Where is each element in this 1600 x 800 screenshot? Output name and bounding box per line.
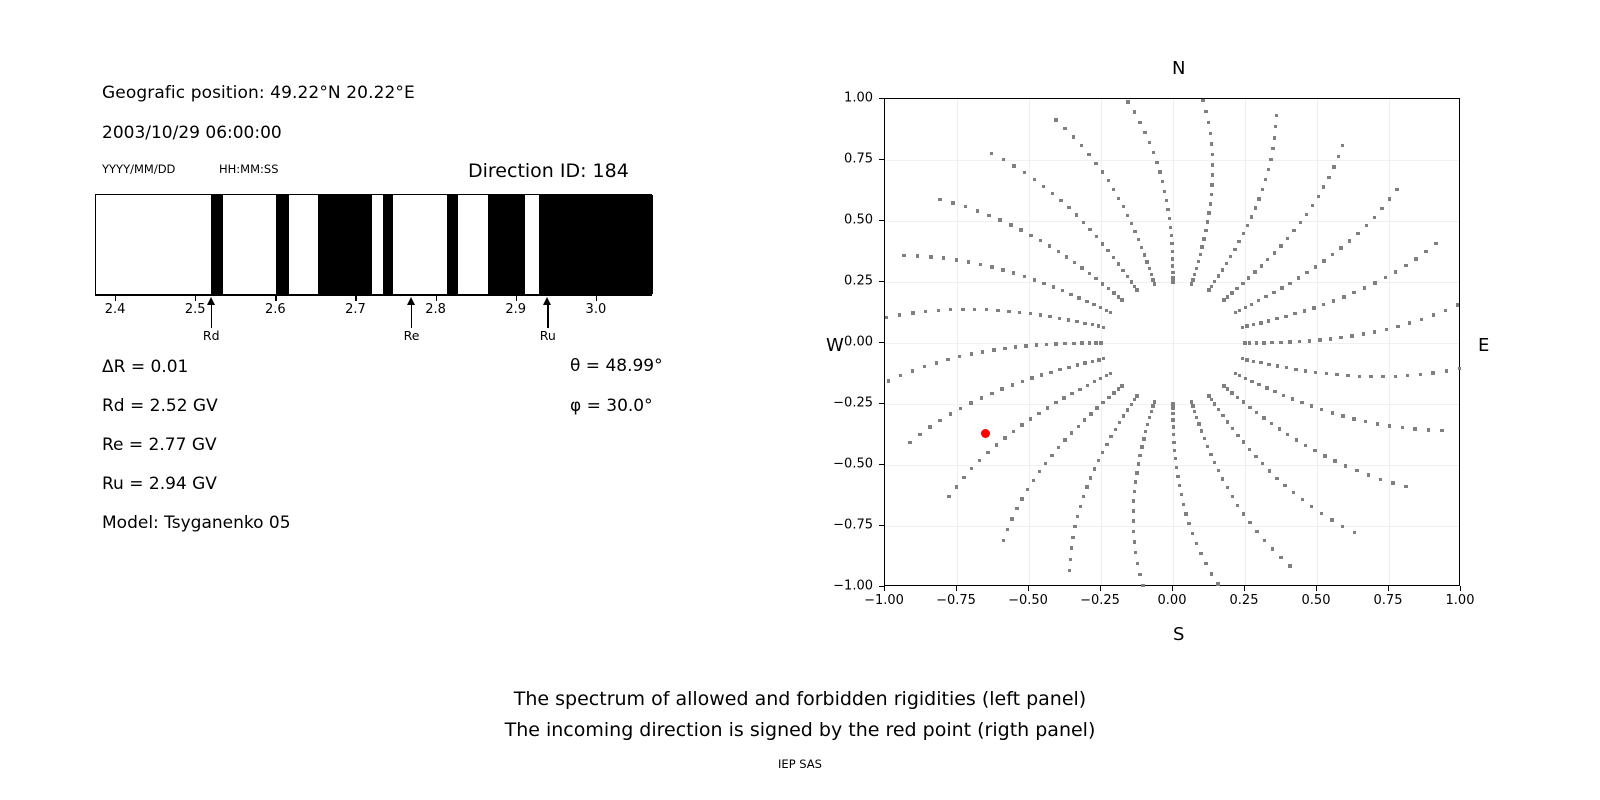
direction-grid-dot — [1182, 503, 1185, 506]
x-axis-tick-label: −0.75 — [936, 593, 976, 608]
direction-grid-dot — [1101, 282, 1104, 285]
direction-grid-dot — [1233, 248, 1236, 251]
direction-grid-dot — [1040, 373, 1043, 376]
direction-grid-dot — [1211, 173, 1214, 176]
direction-grid-dot — [1344, 464, 1347, 467]
direction-grid-dot — [1065, 255, 1068, 258]
direction-grid-dot — [1112, 256, 1115, 259]
direction-grid-dot — [1236, 504, 1239, 507]
direction-grid-dot — [1007, 310, 1010, 313]
direction-grid-dot — [1242, 400, 1245, 403]
direction-grid-dot — [1313, 449, 1316, 452]
direction-grid-dot — [1112, 291, 1115, 294]
direction-grid-dot — [1012, 271, 1015, 274]
direction-grid-dot — [1153, 400, 1156, 403]
direction-grid-dot — [1434, 242, 1437, 245]
direction-grid-dot — [1242, 440, 1245, 443]
direction-grid-dot — [1153, 282, 1156, 285]
direction-grid-dot — [1019, 228, 1022, 231]
direction-grid-dot — [1172, 441, 1175, 444]
direction-grid-dot — [1267, 363, 1270, 366]
direction-grid-dot — [1117, 295, 1120, 298]
direction-grid-dot — [1150, 410, 1153, 413]
direction-grid-dot — [1109, 372, 1112, 375]
direction-grid-dot — [899, 374, 902, 377]
direction-grid-dot — [1105, 443, 1108, 446]
direction-grid-dot — [1137, 238, 1140, 241]
direction-grid-dot — [1388, 424, 1391, 427]
direction-grid-dot — [1329, 337, 1332, 340]
direction-grid-dot — [1010, 517, 1013, 520]
marker-label-re: Re — [404, 328, 420, 343]
direction-grid-dot — [1384, 276, 1387, 279]
direction-grid-dot — [955, 485, 958, 488]
direction-grid-dot — [1294, 368, 1297, 371]
direction-grid-dot — [1458, 367, 1461, 370]
direction-grid-dot — [1176, 475, 1179, 478]
direction-grid-dot — [1252, 323, 1255, 326]
param-model: Model: Tsyganenko 05 — [102, 513, 291, 533]
direction-grid-dot — [1001, 268, 1004, 271]
direction-grid-dot — [1122, 414, 1125, 417]
direction-grid-dot — [1204, 229, 1207, 232]
direction-grid-dot — [1331, 411, 1334, 414]
direction-grid-dot — [1037, 412, 1040, 415]
direction-grid-dot — [1202, 237, 1205, 240]
direction-grid-dot — [1093, 380, 1096, 383]
forbidden-band — [488, 195, 525, 294]
direction-grid-dot — [1381, 375, 1384, 378]
direction-grid-dot — [1199, 253, 1202, 256]
direction-grid-dot — [1199, 552, 1202, 555]
direction-grid-dot — [1144, 430, 1147, 433]
direction-grid-dot — [1246, 224, 1249, 227]
param-delta-r: ΔR = 0.01 — [102, 357, 188, 377]
direction-grid-dot — [1136, 562, 1139, 565]
marker-label-ru: Ru — [540, 328, 556, 343]
spectrum-axis — [95, 295, 652, 296]
marker-label-rd: Rd — [203, 328, 220, 343]
direction-grid-dot — [1021, 380, 1024, 383]
direction-grid-dot — [1120, 384, 1123, 387]
direction-grid-dot — [1023, 275, 1026, 278]
direction-grid-dot — [1311, 204, 1314, 207]
direction-grid-dot — [1112, 188, 1115, 191]
direction-grid-dot — [1171, 276, 1174, 279]
direction-grid-dot — [1114, 428, 1117, 431]
direction-grid-dot — [1094, 277, 1097, 280]
direction-grid-dot — [1045, 343, 1048, 346]
direction-grid-dot — [1288, 564, 1291, 567]
direction-grid-dot — [1280, 286, 1283, 289]
direction-grid-dot — [1133, 285, 1136, 288]
direction-grid-dot — [1267, 168, 1270, 171]
direction-grid-dot — [1396, 325, 1399, 328]
direction-grid-dot — [1275, 317, 1278, 320]
direction-grid-dot — [1308, 339, 1311, 342]
direction-grid-dot — [1101, 451, 1104, 454]
direction-grid-dot — [1097, 459, 1100, 462]
direction-grid-dot — [1209, 202, 1212, 205]
direction-grid-dot — [1097, 358, 1100, 361]
direction-grid-dot — [1023, 171, 1026, 174]
direction-grid-dot — [1333, 459, 1336, 462]
direction-grid-dot — [1132, 519, 1135, 522]
spectrum-tick-label: 2.9 — [505, 302, 526, 317]
direction-grid-dot — [1133, 230, 1136, 233]
direction-grid-dot — [1265, 386, 1268, 389]
direction-grid-dot — [1126, 100, 1129, 103]
direction-grid-dot — [1341, 525, 1344, 528]
direction-grid-dot — [1080, 144, 1083, 147]
direction-grid-dot — [1226, 486, 1229, 489]
direction-grid-dot — [1221, 414, 1224, 417]
direction-grid-dot — [949, 308, 952, 311]
direction-grid-dot — [1263, 539, 1266, 542]
direction-grid-dot — [1095, 235, 1098, 238]
direction-grid-dot — [1121, 269, 1124, 272]
direction-grid-dot — [1365, 224, 1368, 227]
gridline-vertical — [957, 99, 958, 585]
direction-grid-dot — [1244, 377, 1247, 380]
direction-grid-dot — [1143, 253, 1146, 256]
direction-grid-dot — [1067, 206, 1070, 209]
direction-grid-dot — [1020, 423, 1023, 426]
direction-grid-dot — [1018, 311, 1021, 314]
direction-grid-dot — [1099, 306, 1102, 309]
direction-grid-dot — [1272, 291, 1275, 294]
gridline-horizontal — [885, 221, 1459, 222]
direction-grid-dot — [1276, 364, 1279, 367]
x-axis-tick — [884, 586, 885, 591]
direction-grid-dot — [1158, 170, 1161, 173]
direction-grid-dot — [1171, 406, 1174, 409]
direction-grid-dot — [1130, 403, 1133, 406]
direction-grid-dot — [1268, 469, 1271, 472]
direction-grid-dot — [1332, 299, 1335, 302]
y-axis-tick — [879, 586, 884, 587]
direction-grid-dot — [976, 209, 979, 212]
spectrum-tick-label: 3.0 — [586, 302, 607, 317]
direction-grid-dot — [1237, 240, 1240, 243]
spectrum-tick-label: 2.4 — [105, 302, 126, 317]
direction-grid-dot — [1075, 213, 1078, 216]
direction-grid-dot — [1117, 262, 1120, 265]
direction-grid-dot — [1300, 401, 1303, 404]
direction-grid-dot — [1152, 151, 1155, 154]
direction-grid-dot — [1259, 321, 1262, 324]
direction-grid-dot — [1376, 422, 1379, 425]
direction-grid-dot — [1184, 512, 1187, 515]
direction-grid-dot — [1385, 328, 1388, 331]
direction-grid-dot — [1048, 244, 1051, 247]
marker-arrow-rd — [211, 304, 212, 328]
direction-grid-dot — [967, 260, 970, 263]
direction-grid-dot — [902, 254, 905, 257]
forbidden-band — [211, 195, 223, 294]
direction-grid-dot — [986, 451, 989, 454]
direction-grid-dot — [1134, 480, 1137, 483]
direction-grid-dot — [970, 352, 973, 355]
direction-grid-dot — [1029, 312, 1032, 315]
direction-grid-dot — [1244, 306, 1247, 309]
direction-grid-dot — [1039, 239, 1042, 242]
direction-grid-dot — [1075, 320, 1078, 323]
x-axis-tick-label: −0.50 — [1008, 593, 1048, 608]
direction-grid-dot — [1206, 445, 1209, 448]
direction-grid-dot — [1273, 136, 1276, 139]
direction-grid-dot — [1197, 422, 1200, 425]
direction-grid-dot — [1213, 402, 1216, 405]
direction-grid-dot — [1255, 341, 1258, 344]
direction-grid-dot — [1079, 505, 1082, 508]
direction-grid-dot — [1406, 374, 1409, 377]
compass-label-south: S — [1173, 624, 1184, 645]
direction-grid-dot — [1187, 522, 1190, 525]
direction-grid-dot — [1408, 321, 1411, 324]
direction-grid-dot — [1207, 288, 1210, 291]
direction-grid-dot — [898, 313, 901, 316]
direction-grid-dot — [1363, 286, 1366, 289]
direction-grid-dot — [1174, 457, 1177, 460]
direction-grid-dot — [1170, 242, 1173, 245]
direction-grid-dot — [1207, 211, 1210, 214]
x-axis-tick-label: 0.00 — [1158, 593, 1187, 608]
direction-grid-dot — [1419, 373, 1422, 376]
direction-grid-dot — [938, 198, 941, 201]
direction-grid-dot — [990, 265, 993, 268]
direction-grid-dot — [1000, 387, 1003, 390]
direction-map-chart — [884, 98, 1460, 586]
direction-grid-dot — [1166, 208, 1169, 211]
direction-grid-dot — [1206, 220, 1209, 223]
direction-grid-dot — [1006, 528, 1009, 531]
direction-grid-dot — [1248, 448, 1251, 451]
direction-grid-dot — [1204, 110, 1207, 113]
direction-grid-dot — [1362, 332, 1365, 335]
direction-grid-dot — [1253, 270, 1256, 273]
gridline-vertical — [1317, 99, 1318, 585]
direction-grid-dot — [1132, 499, 1135, 502]
direction-grid-dot — [1305, 271, 1308, 274]
direction-grid-dot — [1086, 384, 1089, 387]
direction-grid-dot — [1141, 584, 1144, 587]
direction-grid-dot — [1310, 404, 1313, 407]
y-axis-tick-label: −0.25 — [811, 396, 873, 411]
gridline-vertical — [1173, 99, 1174, 585]
direction-grid-dot — [970, 467, 973, 470]
direction-grid-dot — [1122, 205, 1125, 208]
direction-grid-dot — [1279, 244, 1282, 247]
direction-grid-dot — [1367, 473, 1370, 476]
direction-grid-dot — [1226, 387, 1229, 390]
direction-grid-dot — [1094, 341, 1097, 344]
direction-grid-dot — [1140, 246, 1143, 249]
direction-grid-dot — [1456, 303, 1459, 306]
x-axis-tick-label: 0.25 — [1230, 593, 1259, 608]
direction-grid-dot — [1414, 257, 1417, 260]
gridline-horizontal — [885, 526, 1459, 527]
direction-grid-dot — [1171, 250, 1174, 253]
x-axis-tick — [1100, 586, 1101, 591]
y-axis-tick-label: −1.00 — [811, 579, 873, 594]
direction-grid-dot — [1193, 273, 1196, 276]
forbidden-band — [447, 195, 458, 294]
direction-grid-dot — [885, 316, 888, 319]
direction-grid-dot — [992, 348, 995, 351]
direction-grid-dot — [1191, 532, 1194, 535]
direction-grid-dot — [1171, 257, 1174, 260]
direction-grid-dot — [1204, 562, 1207, 565]
direction-grid-dot — [1271, 547, 1274, 550]
direction-grid-dot — [1180, 493, 1183, 496]
direction-grid-dot — [1259, 361, 1262, 364]
direction-grid-dot — [1339, 336, 1342, 339]
caption-line-1: The spectrum of allowed and forbidden ri… — [0, 688, 1600, 710]
direction-grid-dot — [1063, 127, 1066, 130]
direction-grid-dot — [1068, 569, 1071, 572]
param-re: Re = 2.77 GV — [102, 435, 217, 455]
direction-grid-dot — [1364, 420, 1367, 423]
direction-grid-dot — [959, 407, 962, 410]
direction-grid-dot — [1151, 404, 1154, 407]
direction-grid-dot — [998, 218, 1001, 221]
gridline-vertical — [1389, 99, 1390, 585]
direction-grid-dot — [1295, 438, 1298, 441]
param-ru: Ru = 2.94 GV — [102, 474, 217, 494]
direction-grid-dot — [1168, 217, 1171, 220]
direction-grid-dot — [1210, 398, 1213, 401]
x-axis-tick-label: 1.00 — [1446, 593, 1475, 608]
polar-plot-frame — [884, 98, 1460, 586]
direction-grid-dot — [1213, 461, 1216, 464]
direction-grid-dot — [1207, 121, 1210, 124]
direction-grid-dot — [1030, 376, 1033, 379]
direction-grid-dot — [1254, 206, 1257, 209]
x-axis-tick-label: 0.75 — [1374, 593, 1403, 608]
direction-grid-dot — [1035, 343, 1038, 346]
direction-grid-dot — [1085, 300, 1088, 303]
direction-grid-dot — [1155, 161, 1158, 164]
direction-grid-dot — [1133, 490, 1136, 493]
direction-grid-dot — [1172, 433, 1175, 436]
direction-grid-dot — [1288, 340, 1291, 343]
compass-label-east: E — [1478, 335, 1489, 356]
direction-grid-dot — [1091, 323, 1094, 326]
direction-grid-dot — [1150, 273, 1153, 276]
direction-grid-dot — [1323, 454, 1326, 457]
x-axis-tick — [1316, 586, 1317, 591]
direction-grid-dot — [1255, 411, 1258, 414]
direction-grid-dot — [887, 379, 890, 382]
direction-grid-dot — [1135, 288, 1138, 291]
direction-grid-dot — [1350, 334, 1353, 337]
direction-grid-dot — [1107, 179, 1110, 182]
direction-grid-dot — [1353, 531, 1356, 534]
direction-grid-dot — [1445, 369, 1448, 372]
direction-grid-dot — [1051, 192, 1054, 195]
marker-arrow-head — [543, 297, 551, 305]
incoming-direction-point — [981, 429, 990, 438]
direction-grid-dot — [1221, 268, 1224, 271]
direction-grid-dot — [1163, 190, 1166, 193]
direction-grid-dot — [1003, 436, 1006, 439]
x-axis-tick-label: −1.00 — [864, 593, 904, 608]
direction-grid-dot — [1229, 255, 1232, 258]
direction-grid-dot — [1058, 317, 1061, 320]
direction-grid-dot — [1200, 245, 1203, 248]
direction-grid-dot — [1029, 234, 1032, 237]
direction-grid-dot — [1054, 342, 1057, 345]
direction-grid-dot — [1072, 135, 1075, 138]
direction-grid-dot — [1161, 180, 1164, 183]
direction-grid-dot — [1148, 416, 1151, 419]
direction-grid-dot — [1003, 347, 1006, 350]
time-format-hint: HH:MM:SS — [219, 162, 279, 176]
direction-grid-dot — [1211, 163, 1214, 166]
datetime-label: 2003/10/29 06:00:00 — [102, 123, 282, 143]
direction-grid-dot — [1102, 326, 1105, 329]
x-axis-tick — [1388, 586, 1389, 591]
direction-grid-dot — [942, 256, 945, 259]
direction-grid-dot — [1355, 469, 1358, 472]
direction-grid-dot — [1230, 391, 1233, 394]
direction-grid-dot — [1200, 429, 1203, 432]
direction-grid-dot — [1171, 412, 1174, 415]
direction-grid-dot — [1102, 357, 1105, 360]
direction-grid-dot — [924, 310, 927, 313]
direction-grid-dot — [1077, 425, 1080, 428]
direction-grid-dot — [1058, 368, 1061, 371]
direction-grid-dot — [1082, 495, 1085, 498]
direction-grid-dot — [1325, 372, 1328, 375]
direction-grid-dot — [1057, 446, 1060, 449]
direction-grid-dot — [1286, 433, 1289, 436]
direction-grid-dot — [1297, 276, 1300, 279]
direction-grid-dot — [1101, 170, 1104, 173]
gridline-horizontal — [885, 343, 1459, 344]
direction-grid-dot — [1093, 467, 1096, 470]
direction-grid-dot — [1107, 287, 1110, 290]
direction-grid-dot — [935, 361, 938, 364]
marker-arrow-ru — [547, 304, 548, 328]
direction-grid-dot — [1234, 311, 1237, 314]
direction-grid-dot — [990, 392, 993, 395]
direction-grid-dot — [1070, 431, 1073, 434]
direction-grid-dot — [1039, 313, 1042, 316]
direction-grid-dot — [1193, 410, 1196, 413]
direction-grid-dot — [1173, 449, 1176, 452]
direction-grid-dot — [1080, 341, 1083, 344]
direction-grid-dot — [1273, 390, 1276, 393]
direction-grid-dot — [1255, 530, 1258, 533]
direction-grid-dot — [1260, 264, 1263, 267]
direction-grid-dot — [1112, 391, 1115, 394]
direction-grid-dot — [1391, 481, 1394, 484]
direction-grid-dot — [1373, 216, 1376, 219]
direction-grid-dot — [1061, 289, 1064, 292]
direction-grid-dot — [1033, 278, 1036, 281]
direction-grid-dot — [1288, 282, 1291, 285]
direction-grid-dot — [1279, 556, 1282, 559]
forbidden-band — [539, 195, 653, 294]
direction-grid-dot — [1088, 228, 1091, 231]
direction-grid-dot — [1171, 271, 1174, 274]
marker-arrow-re — [411, 304, 412, 328]
direction-grid-dot — [1080, 266, 1083, 269]
direction-grid-dot — [1322, 303, 1325, 306]
direction-grid-dot — [951, 201, 954, 204]
